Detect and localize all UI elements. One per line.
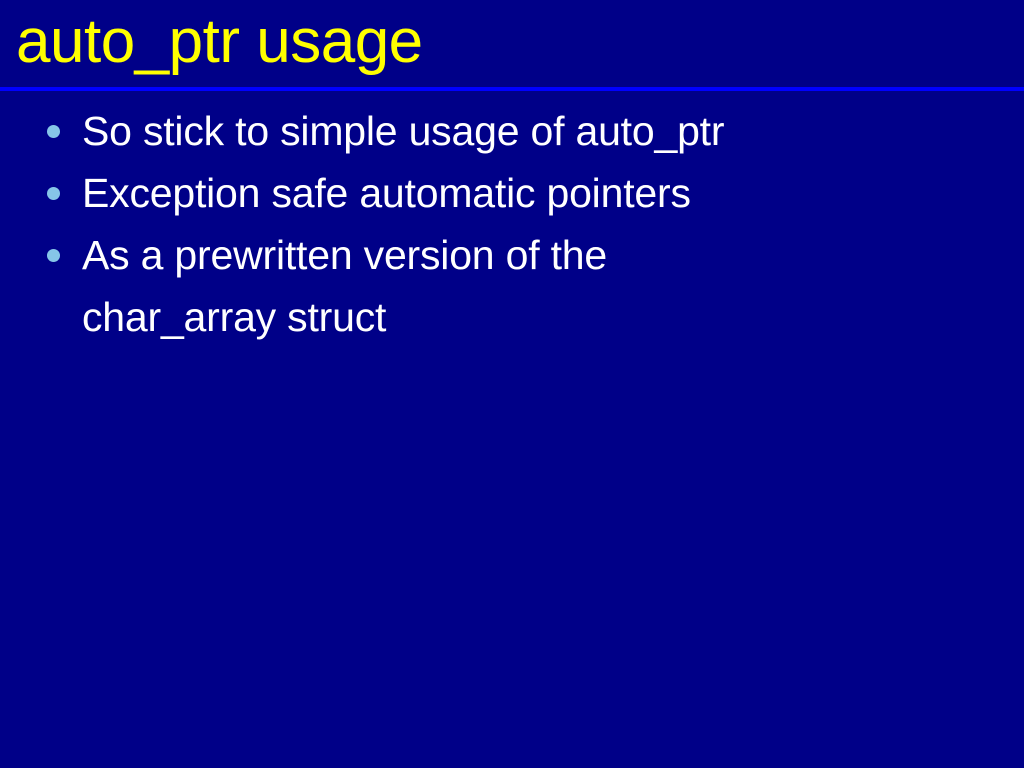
list-item: Exception safe automatic pointers [0, 162, 1024, 224]
list-item-label: Exception safe automatic pointers [82, 162, 782, 224]
presentation-slide: auto_ptr usage So stick to simple usage … [0, 0, 1024, 768]
page-title: auto_ptr usage [16, 4, 1008, 80]
list-item: As a prewritten version of the char_arra… [0, 224, 1024, 348]
list-item: So stick to simple usage of auto_ptr [0, 100, 1024, 162]
round-bullet-icon [47, 187, 60, 200]
bullet-list: So stick to simple usage of auto_ptr Exc… [0, 100, 1024, 348]
round-bullet-icon [47, 249, 60, 262]
list-item-label: As a prewritten version of the char_arra… [82, 224, 782, 348]
list-item-label: So stick to simple usage of auto_ptr [82, 100, 782, 162]
slide-body: So stick to simple usage of auto_ptr Exc… [0, 100, 1024, 348]
title-divider-rule [0, 87, 1024, 91]
round-bullet-icon [47, 125, 60, 138]
